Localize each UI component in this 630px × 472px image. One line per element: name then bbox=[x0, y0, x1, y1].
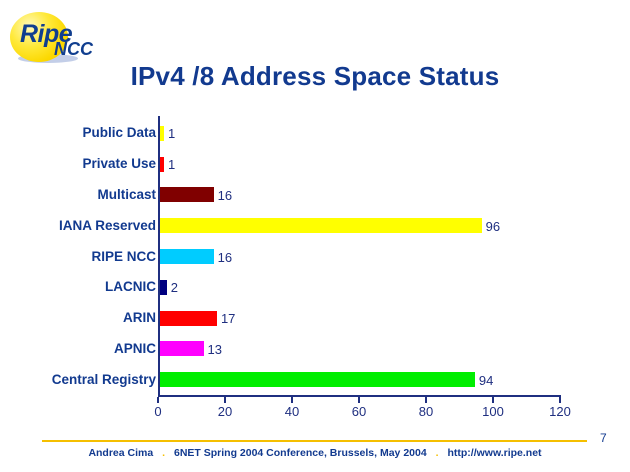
x-axis-tick-label: 0 bbox=[154, 404, 161, 419]
bar-value-label: 1 bbox=[168, 158, 175, 171]
x-axis-tick bbox=[559, 397, 561, 403]
ripe-ncc-logo: Ripe NCC bbox=[6, 6, 126, 64]
footer-divider bbox=[42, 440, 587, 442]
bar-value-label: 13 bbox=[208, 343, 222, 356]
category-label: IANA Reserved bbox=[59, 219, 156, 233]
bar-value-label: 94 bbox=[479, 374, 493, 387]
category-label: Public Data bbox=[82, 126, 156, 140]
bar bbox=[160, 341, 204, 356]
bar bbox=[160, 126, 164, 141]
bar-value-label: 2 bbox=[171, 281, 178, 294]
bar-value-label: 16 bbox=[218, 189, 232, 202]
category-label: Multicast bbox=[97, 188, 156, 202]
x-axis-tick-label: 80 bbox=[419, 404, 433, 419]
category-label: Central Registry bbox=[52, 373, 156, 387]
footer-author: Andrea Cima bbox=[88, 447, 153, 459]
bar bbox=[160, 372, 475, 387]
x-axis-tick bbox=[157, 397, 159, 403]
bar bbox=[160, 218, 482, 233]
page-number: 7 bbox=[600, 431, 607, 445]
x-axis-tick-label: 20 bbox=[218, 404, 232, 419]
x-axis-tick-label: 60 bbox=[352, 404, 366, 419]
bar bbox=[160, 187, 214, 202]
bar-chart: 020406080100120 Public Data1Private Use1… bbox=[0, 116, 630, 416]
bar bbox=[160, 311, 217, 326]
x-axis-tick-label: 100 bbox=[482, 404, 504, 419]
footer-event: 6NET Spring 2004 Conference, Brussels, M… bbox=[174, 447, 427, 459]
x-axis-tick-label: 120 bbox=[549, 404, 571, 419]
page-title: IPv4 /8 Address Space Status bbox=[0, 61, 630, 92]
x-axis-tick bbox=[224, 397, 226, 403]
footer-url[interactable]: http://www.ripe.net bbox=[447, 447, 541, 459]
x-axis-tick-label: 40 bbox=[285, 404, 299, 419]
bar bbox=[160, 280, 167, 295]
footer-separator-1: . bbox=[156, 447, 171, 459]
footer-separator-2: . bbox=[430, 447, 445, 459]
bar-value-label: 16 bbox=[218, 251, 232, 264]
category-label: LACNIC bbox=[105, 280, 156, 294]
logo-ncc-text: NCC bbox=[54, 40, 93, 58]
x-axis-tick bbox=[425, 397, 427, 403]
bar-value-label: 1 bbox=[168, 127, 175, 140]
footer-text: Andrea Cima . 6NET Spring 2004 Conferenc… bbox=[0, 447, 630, 459]
bar-value-label: 17 bbox=[221, 312, 235, 325]
x-axis-tick bbox=[492, 397, 494, 403]
bar bbox=[160, 249, 214, 264]
x-axis-tick bbox=[358, 397, 360, 403]
category-label: RIPE NCC bbox=[91, 250, 156, 264]
x-axis-tick bbox=[291, 397, 293, 403]
bar bbox=[160, 157, 164, 172]
category-label: ARIN bbox=[123, 311, 156, 325]
category-label: Private Use bbox=[82, 157, 156, 171]
bar-value-label: 96 bbox=[486, 220, 500, 233]
category-label: APNIC bbox=[114, 342, 156, 356]
